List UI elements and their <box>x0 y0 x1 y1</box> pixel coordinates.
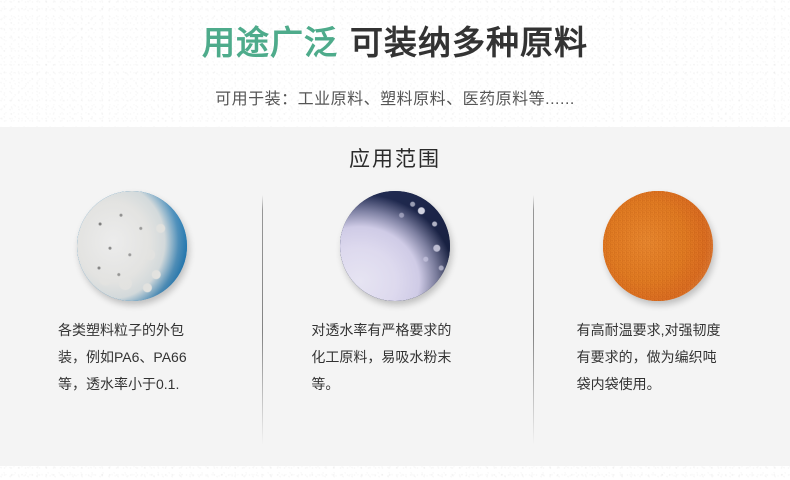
page-title-accent: 用途广泛 <box>202 24 338 61</box>
column-divider-2 <box>533 195 534 445</box>
circle-frame-1 <box>77 191 187 301</box>
application-image-wrap-1 <box>0 191 263 309</box>
orange-granules-photo <box>603 191 713 301</box>
application-item-1: 各类塑料粒子的外包装，例如PA6、PA66等，透水率小于0.1. <box>0 181 263 466</box>
column-divider-1 <box>262 195 263 445</box>
application-text-1: 各类塑料粒子的外包装，例如PA6、PA66等，透水率小于0.1. <box>0 317 263 398</box>
page-title: 用途广泛可装纳多种原料 <box>0 16 790 64</box>
application-item-2: 对透水率有严格要求的化工原料，易吸水粉末等。 <box>263 181 526 466</box>
application-text-3: 有高耐温要求,对强韧度有要求的，做为编织吨袋内袋使用。 <box>527 317 790 398</box>
application-text-2-body: 对透水率有严格要求的化工原料，易吸水粉末等。 <box>311 317 463 398</box>
white-plastic-pellets-photo <box>77 191 187 301</box>
application-text-3-body: 有高耐温要求,对强韧度有要求的，做为编织吨袋内袋使用。 <box>577 317 729 398</box>
white-chemical-powder-photo <box>340 191 450 301</box>
footer-texture-strip <box>0 466 790 480</box>
product-detail-page: 用途广泛可装纳多种原料 可用于装：工业原料、塑料原料、医药原料等...... 应… <box>0 0 790 480</box>
page-header: 用途广泛可装纳多种原料 可用于装：工业原料、塑料原料、医药原料等...... <box>0 0 790 127</box>
application-text-1-body: 各类塑料粒子的外包装，例如PA6、PA66等，透水率小于0.1. <box>58 317 210 398</box>
application-image-wrap-2 <box>263 191 526 309</box>
circle-frame-3 <box>603 191 713 301</box>
circle-frame-2 <box>340 191 450 301</box>
application-text-2: 对透水率有严格要求的化工原料，易吸水粉末等。 <box>263 317 526 398</box>
page-subtitle: 可用于装：工业原料、塑料原料、医药原料等...... <box>0 85 790 109</box>
page-title-main: 可装纳多种原料 <box>350 24 588 61</box>
section-title: 应用范围 <box>0 143 790 173</box>
application-image-wrap-3 <box>527 191 790 309</box>
application-columns: 各类塑料粒子的外包装，例如PA6、PA66等，透水率小于0.1. 对透水率有严格… <box>0 181 790 466</box>
application-scope-panel: 应用范围 各类塑料粒子的外包装，例如PA6、PA66等，透水率小于0.1. 对透… <box>0 127 790 466</box>
application-item-3: 有高耐温要求,对强韧度有要求的，做为编织吨袋内袋使用。 <box>527 181 790 466</box>
